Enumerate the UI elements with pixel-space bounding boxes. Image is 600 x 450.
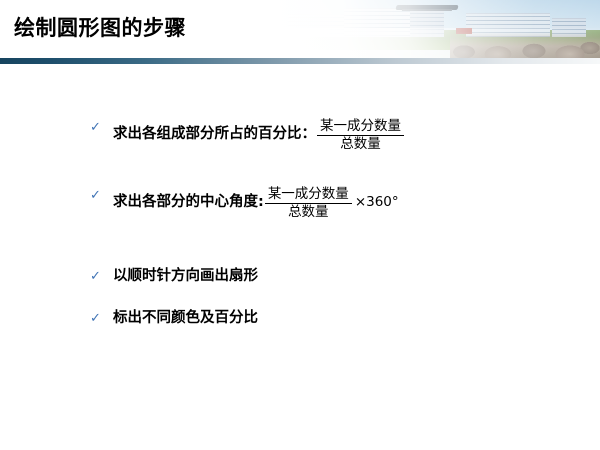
fraction-denominator: 总数量 bbox=[337, 136, 384, 152]
check-icon: ✓ bbox=[90, 187, 104, 205]
fraction-denominator: 总数量 bbox=[285, 204, 332, 220]
slide-body: ✓ 求出各组成部分所占的百分比： 某一成分数量 总数量 ✓ 求出各部分的中心角度… bbox=[0, 64, 600, 450]
percentage-fraction: 某一成分数量 总数量 bbox=[317, 119, 404, 152]
bullet-color-label-label: 标出不同颜色及百分比 bbox=[113, 309, 258, 328]
bullet-clockwise-sector-label: 以顺时针方向画出扇形 bbox=[113, 267, 258, 286]
center-angle-fraction: 某一成分数量 总数量 bbox=[265, 187, 352, 220]
bullet-color-label: ✓ 标出不同颜色及百分比 bbox=[90, 309, 258, 328]
bullet-percentage: ✓ 求出各组成部分所占的百分比： 某一成分数量 总数量 bbox=[90, 118, 405, 151]
presentation-slide: 绘制圆形图的步骤 ✓ 求出各组成部分所占的百分比： 某一成分数量 总数量 ✓ 求… bbox=[0, 0, 600, 450]
bullet-center-angle-label: 求出各部分的中心角度: bbox=[113, 193, 264, 212]
bullet-clockwise-sector: ✓ 以顺时针方向画出扇形 bbox=[90, 267, 258, 286]
photo-white-fade-overlay bbox=[270, 0, 600, 58]
check-icon: ✓ bbox=[90, 310, 104, 328]
check-icon: ✓ bbox=[90, 268, 104, 286]
fraction-numerator: 某一成分数量 bbox=[317, 119, 404, 136]
check-icon: ✓ bbox=[90, 119, 104, 137]
fraction-numerator: 某一成分数量 bbox=[265, 187, 352, 204]
bullet-percentage-label: 求出各组成部分所占的百分比： bbox=[113, 125, 316, 144]
page-title: 绘制圆形图的步骤 bbox=[14, 14, 186, 42]
campus-photo-image bbox=[270, 0, 600, 58]
title-divider-bar bbox=[0, 58, 600, 64]
fraction-suffix: ×360° bbox=[355, 193, 399, 212]
bullet-center-angle: ✓ 求出各部分的中心角度: 某一成分数量 总数量 ×360° bbox=[90, 186, 399, 219]
bullet-percentage-content: 求出各组成部分所占的百分比： 某一成分数量 总数量 bbox=[113, 118, 405, 151]
bullet-center-angle-content: 求出各部分的中心角度: 某一成分数量 总数量 ×360° bbox=[113, 186, 399, 219]
